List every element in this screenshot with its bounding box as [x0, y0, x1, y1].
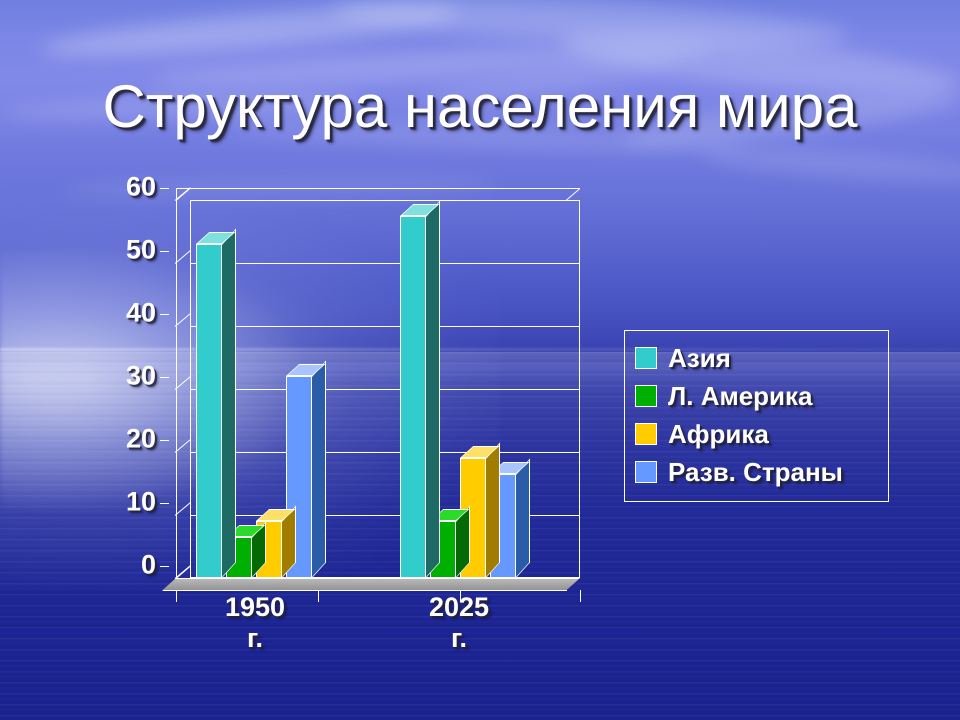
bar-side-face [486, 443, 500, 578]
gridline-60 [190, 200, 580, 201]
legend-swatch-icon [635, 423, 657, 445]
plot-back-wall-top-edge [176, 188, 580, 189]
gridline-50 [190, 263, 580, 264]
bar-side-face [222, 229, 236, 578]
x-axis-year: 1950 [170, 592, 340, 623]
y-axis-line [190, 200, 191, 578]
bar-front-face [196, 244, 222, 578]
legend-swatch-icon [635, 347, 657, 369]
gridline-20 [190, 452, 580, 453]
chart-legend: АзияЛ. АмерикаАфрикаРазв. Страны [624, 330, 889, 502]
bar-front-face [400, 216, 426, 578]
x-axis-year: 2025 [374, 592, 544, 623]
x-axis-unit: г. [374, 623, 544, 654]
legend-label: Разв. Страны [668, 457, 843, 488]
legend-item-4[interactable]: Разв. Страны [635, 453, 878, 491]
y-axis-label-20: 20 [80, 424, 156, 455]
legend-label: Л. Америка [668, 381, 813, 412]
y-axis-label-0: 0 [80, 550, 156, 581]
plot-back-wall-left-edge [176, 188, 177, 578]
x-axis-category-1: 1950г. [170, 592, 340, 654]
slide-title: Структура населения мира [0, 74, 960, 140]
presentation-slide: Структура населения мира 010203040506019… [0, 0, 960, 720]
y-tick-outer-60 [160, 188, 169, 189]
bar-side-face [516, 458, 530, 577]
chart-floor-front-edge [163, 590, 567, 591]
y-tick-outer-50 [160, 251, 169, 252]
legend-item-1[interactable]: Азия [635, 339, 878, 377]
legend-item-3[interactable]: Африка [635, 415, 878, 453]
y-axis-label-60: 60 [80, 172, 156, 203]
y-axis-label-30: 30 [80, 361, 156, 392]
y-axis-label-50: 50 [80, 235, 156, 266]
x-axis-category-2: 2025г. [374, 592, 544, 654]
legend-swatch-icon [635, 461, 657, 483]
bar-side-face [312, 361, 326, 578]
y-tick-outer-0 [160, 566, 169, 567]
legend-label: Африка [668, 419, 769, 450]
y-axis-label-40: 40 [80, 298, 156, 329]
bar-2-1[interactable] [400, 216, 426, 578]
y-tick-outer-20 [160, 440, 169, 441]
y-axis-label-10: 10 [80, 487, 156, 518]
legend-swatch-icon [635, 385, 657, 407]
y-tick-outer-30 [160, 377, 169, 378]
bar-1-1[interactable] [196, 244, 222, 578]
bar-side-face [426, 200, 440, 578]
y-tick-outer-40 [160, 314, 169, 315]
gridline-30 [190, 389, 580, 390]
y-tick-outer-10 [160, 503, 169, 504]
x-axis-unit: г. [170, 623, 340, 654]
x-tick-3 [580, 590, 581, 602]
legend-item-2[interactable]: Л. Америка [635, 377, 878, 415]
legend-label: Азия [668, 343, 731, 374]
gridline-40 [190, 326, 580, 327]
